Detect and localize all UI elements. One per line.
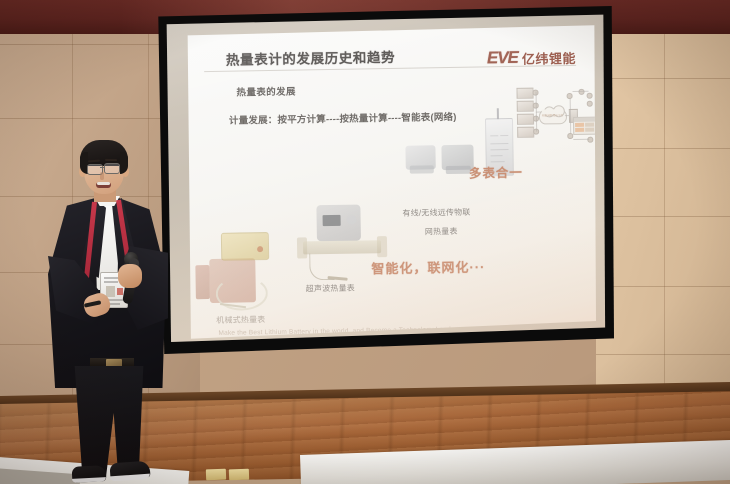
- eve-logo: EVE 亿纬锂能: [487, 47, 576, 68]
- presentation-photo: 热量表计的发展历史和趋势 EVE 亿纬锂能 热量表的发展 计量发展：按平方计算-…: [0, 0, 730, 484]
- caption-mechanical: 机械式热量表: [216, 314, 265, 326]
- iot-network-topology-diagram: 物联网数据云平台: [516, 87, 595, 150]
- slide-title: 热量表计的发展历史和趋势: [226, 46, 396, 69]
- eve-logo-mark: EVE: [487, 48, 518, 69]
- nose: [100, 172, 104, 180]
- hand-right: [118, 264, 142, 288]
- floor-block: [206, 469, 226, 481]
- shoe-sole-left: [72, 477, 106, 483]
- slide-body-line: 计量发展：按平方计算----按热量计算----智能表(网络): [229, 111, 459, 129]
- presenter: [40, 136, 172, 484]
- slide-subtitle: 热量表的发展: [236, 84, 296, 99]
- accent-smart-network: 智能化，联网化···: [371, 256, 485, 277]
- eyeglasses-bridge: [100, 167, 105, 168]
- badge-accent: [117, 288, 123, 295]
- badge-photo: [106, 286, 115, 297]
- back-wall-right: [596, 20, 730, 416]
- caption-iot-line2: 网热量表: [425, 226, 458, 238]
- floor-block: [229, 469, 249, 481]
- teeth: [97, 182, 110, 185]
- caption-iot-line1: 有线/无线远传物联: [402, 207, 470, 219]
- eyebrow-right: [105, 159, 117, 161]
- eyeglasses-lens-right: [104, 163, 120, 174]
- projected-slide: 热量表计的发展历史和趋势 EVE 亿纬锂能 热量表的发展 计量发展：按平方计算-…: [186, 24, 596, 340]
- accent-multi-meter: 多表合一: [469, 162, 523, 182]
- cloud-label: 物联网数据云平台: [542, 113, 564, 117]
- caption-ultrasonic: 超声波热量表: [306, 283, 355, 295]
- belt-buckle: [106, 359, 122, 367]
- eve-logo-wordmark: 亿纬锂能: [522, 47, 576, 67]
